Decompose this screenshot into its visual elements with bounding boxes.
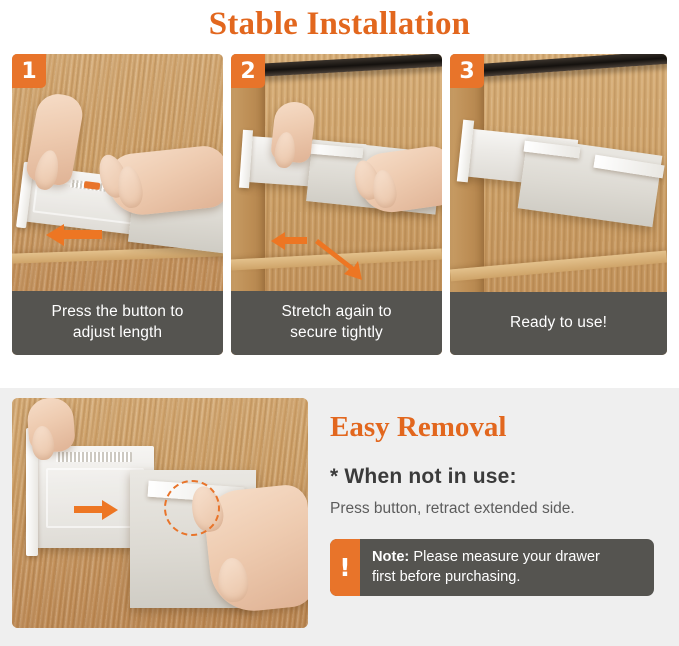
step-caption-1: Press the button to adjust length <box>12 291 223 355</box>
step-caption-1-line1: Press the button to <box>52 303 184 320</box>
note-box: ! Note: Please measure your drawer first… <box>330 539 654 596</box>
note-text-line1: Please measure your drawer <box>409 549 600 565</box>
step-caption-3: Ready to use! <box>450 292 667 355</box>
step-number-badge-3: 3 <box>450 54 484 88</box>
orange-arrow-left-icon <box>44 222 104 248</box>
installation-steps: 1 Press the button to adjust length <box>12 54 667 355</box>
note-text-line2: first before purchasing. <box>372 569 520 585</box>
removal-text-block: Easy Removal * When not in use: Press bu… <box>330 410 666 596</box>
step-caption-2-line2: secure tightly <box>290 324 383 341</box>
step-caption-2: Stretch again to secure tightly <box>231 291 442 355</box>
easy-removal-heading: Easy Removal <box>330 410 666 444</box>
step-caption-1-line2: adjust length <box>73 324 162 341</box>
step-panel-1[interactable]: 1 Press the button to adjust length <box>12 54 223 355</box>
when-not-in-use-subheading: * When not in use: <box>330 464 666 490</box>
step-panel-3[interactable]: 3 Ready to use! <box>450 54 667 355</box>
removal-photo[interactable] <box>12 398 308 628</box>
step-number-badge-1: 1 <box>12 54 46 88</box>
note-label: Note: <box>372 549 409 565</box>
easy-removal-section: Easy Removal * When not in use: Press bu… <box>0 388 679 646</box>
page-title: Stable Installation <box>0 0 679 46</box>
step-caption-2-line1: Stretch again to <box>281 303 391 320</box>
orange-arrow-left-icon <box>269 230 309 252</box>
step-caption-3-line1: Ready to use! <box>510 314 607 331</box>
divider-rack-teeth <box>56 452 132 462</box>
removal-description: Press button, retract extended side. <box>330 498 666 519</box>
note-text: Note: Please measure your drawer first b… <box>360 539 610 596</box>
orange-arrow-right-down-icon <box>313 236 369 282</box>
orange-arrow-right-icon <box>72 498 120 522</box>
step-number-badge-2: 2 <box>231 54 265 88</box>
exclamation-icon: ! <box>330 539 360 596</box>
dashed-highlight-circle-icon <box>164 480 220 536</box>
step-panel-2[interactable]: 2 Stretch again to secure tightly <box>231 54 442 355</box>
